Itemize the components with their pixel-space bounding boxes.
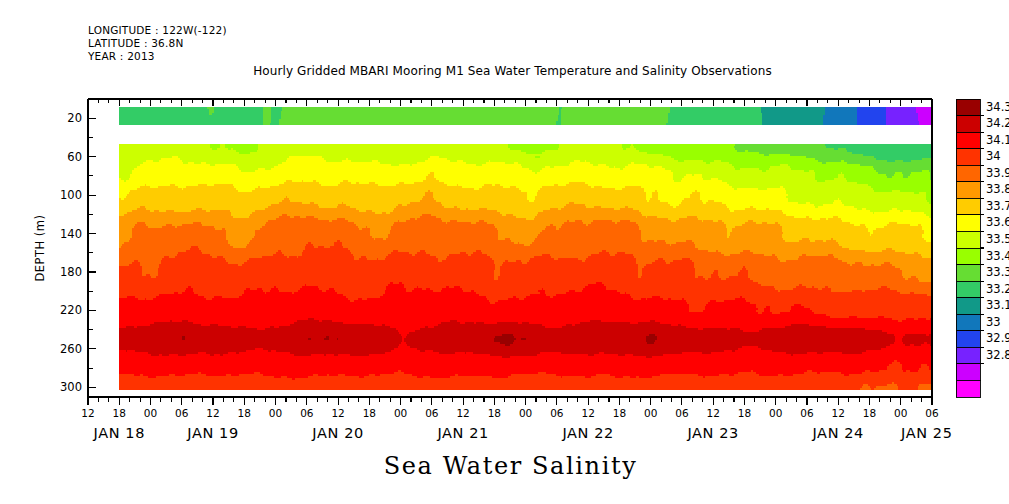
y-tick-label: 220 (60, 303, 82, 317)
colorbar-tick-label: 32.8 (986, 348, 1009, 362)
salinity-field (119, 107, 932, 390)
colorbar-tick-label: 33.6 (986, 215, 1009, 229)
colorbar-swatch (956, 331, 980, 348)
x-day-label: JAN 18 (93, 425, 145, 441)
x-hour-tick-label: 06 (300, 407, 314, 419)
colorbar-swatch (956, 248, 980, 265)
colorbar-tick-label: 33.3 (986, 265, 1009, 279)
x-day-label: JAN 19 (186, 425, 238, 441)
colorbar-swatch (956, 364, 980, 381)
x-day-label: JAN 24 (811, 425, 863, 441)
x-hour-tick-label: 18 (863, 407, 876, 419)
x-hour-tick-label: 06 (925, 407, 939, 419)
x-hour-tick-label: 00 (269, 407, 282, 419)
x-hour-tick-label: 00 (394, 407, 407, 419)
x-hour-tick-label: 18 (738, 407, 751, 419)
colorbar-tick-label: 34 (986, 149, 1001, 163)
colorbar-swatch (956, 182, 980, 199)
x-hour-tick-label: 00 (769, 407, 782, 419)
colorbar-swatch (956, 265, 980, 282)
x-day-label: JAN 20 (311, 425, 363, 441)
y-tick-label: 260 (60, 342, 82, 356)
y-tick-label: 180 (60, 265, 82, 279)
colorbar-swatch (956, 347, 980, 364)
x-hour-tick-label: 12 (81, 407, 94, 419)
colorbar-tick-label: 33.2 (986, 282, 1009, 296)
colorbar-tick-label: 33.7 (986, 199, 1009, 213)
colorbar-swatch (956, 314, 980, 331)
x-hour-tick-label: 12 (456, 407, 469, 419)
x-day-label: JAN 25 (900, 425, 952, 441)
salinity-section-plot: 2060100140180220260300DEPTH (m)121800061… (0, 0, 1009, 504)
colorbar-tick-label: 33.9 (986, 166, 1009, 180)
x-hour-tick-label: 00 (894, 407, 907, 419)
colorbar-tick-label: 33.1 (986, 298, 1009, 312)
x-hour-tick-label: 12 (331, 407, 344, 419)
x-hour-tick-label: 18 (488, 407, 501, 419)
y-axis-title: DEPTH (m) (33, 214, 47, 281)
x-hour-tick-label: 18 (363, 407, 376, 419)
x-day-label: JAN 22 (561, 425, 613, 441)
colorbar-tick-label: 32.9 (986, 331, 1009, 345)
x-hour-tick-label: 06 (675, 407, 689, 419)
x-hour-tick-label: 12 (206, 407, 219, 419)
x-hour-tick-label: 00 (144, 407, 157, 419)
colorbar-tick-label: 34.2 (986, 116, 1009, 130)
x-hour-tick-label: 00 (644, 407, 657, 419)
variable-title-text: Sea Water Salinity (384, 452, 638, 480)
colorbar-tick-label: 33.5 (986, 232, 1009, 246)
colorbar-tick-label: 33 (986, 315, 1001, 329)
colorbar-swatch (956, 231, 980, 248)
colorbar-tick-label: 33.4 (986, 249, 1009, 263)
x-hour-tick-label: 18 (613, 407, 626, 419)
colorbar-tick-label: 34.3 (986, 100, 1009, 114)
colorbar-swatch (956, 298, 980, 315)
colorbar-swatch (956, 132, 980, 149)
colorbar-swatch (956, 198, 980, 215)
colorbar-swatch (956, 116, 980, 133)
colorbar-swatch (956, 281, 980, 298)
y-tick-label: 20 (67, 111, 82, 125)
y-tick-label: 300 (60, 380, 82, 394)
colorbar-swatch (956, 215, 980, 232)
colorbar-swatch (956, 165, 980, 182)
colorbar-tick-label: 34.1 (986, 133, 1009, 147)
variable-title: Sea Water Salinity (0, 452, 1009, 480)
x-hour-tick-label: 12 (832, 407, 845, 419)
x-day-label: JAN 21 (436, 425, 488, 441)
y-tick-label: 140 (60, 227, 82, 241)
x-hour-tick-label: 06 (550, 407, 564, 419)
y-tick-label: 100 (60, 188, 82, 202)
x-hour-tick-label: 12 (581, 407, 594, 419)
x-day-label: JAN 23 (686, 425, 738, 441)
x-hour-tick-label: 18 (238, 407, 251, 419)
y-tick-label: 60 (67, 150, 82, 164)
chart-page: LONGITUDE : 122W(-122) LATITUDE : 36.8N … (0, 0, 1009, 504)
x-hour-tick-label: 06 (800, 407, 814, 419)
x-hour-tick-label: 18 (113, 407, 126, 419)
colorbar-tick-label: 33.8 (986, 182, 1009, 196)
colorbar-swatch (956, 99, 980, 116)
colorbar-swatch (956, 380, 980, 397)
colorbar-swatch (956, 149, 980, 166)
colorbar: 34.334.234.13433.933.833.733.633.533.433… (956, 99, 1009, 397)
x-hour-tick-label: 00 (519, 407, 532, 419)
x-hour-tick-label: 06 (425, 407, 439, 419)
x-hour-tick-label: 06 (175, 407, 189, 419)
x-hour-tick-label: 12 (706, 407, 719, 419)
